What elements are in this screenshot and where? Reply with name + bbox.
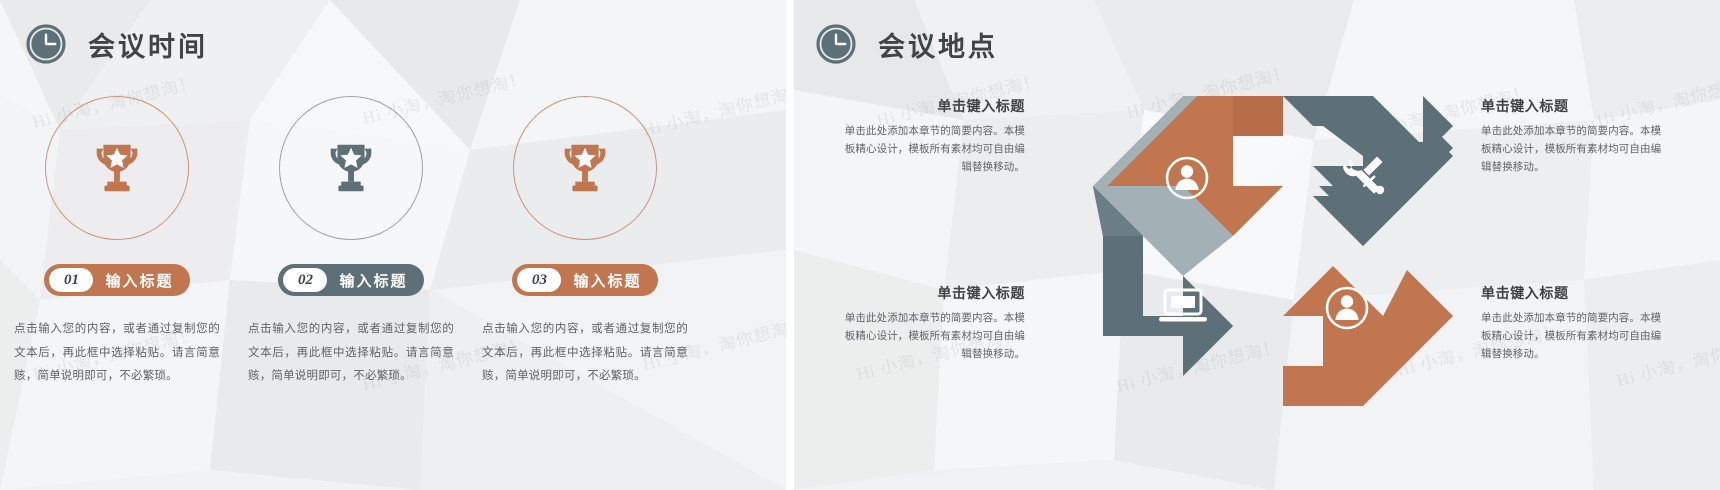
cycle-text-bottom-left[interactable]: 单击键入标题 单击此处添加本章节的简要内容。本模板精心设计，模板所有素材均可自由… — [839, 283, 1025, 363]
badge-03[interactable]: 03 输入标题 — [512, 264, 657, 296]
cycle-text-top-left[interactable]: 单击键入标题 单击此处添加本章节的简要内容。本模板精心设计，模板所有素材均可自由… — [839, 96, 1025, 176]
badge-02[interactable]: 02 输入标题 — [278, 264, 423, 296]
badge-number: 03 — [517, 268, 561, 292]
cycle-text-bottom-right[interactable]: 单击键入标题 单击此处添加本章节的简要内容。本模板精心设计，模板所有素材均可自由… — [1481, 283, 1667, 363]
page-title: 会议时间 — [88, 25, 208, 64]
block-body: 单击此处添加本章节的简要内容。本模板精心设计，模板所有素材均可自由编辑替换移动。 — [1481, 122, 1667, 176]
slide-meeting-time: Hi 小淘，淘你想淘！ Hi 小淘，淘你想淘！ Hi 小淘，淘你想淘！ Hi 小… — [0, 0, 786, 490]
cycle-text-top-right[interactable]: 单击键入标题 单击此处添加本章节的简要内容。本模板精心设计，模板所有素材均可自由… — [1481, 96, 1667, 176]
block-body: 单击此处添加本章节的简要内容。本模板精心设计，模板所有素材均可自由编辑替换移动。 — [839, 122, 1025, 176]
trophy-column-03[interactable]: 03 输入标题 点击输入您的内容，或者通过复制您的文本后，再此框中选择粘贴。请言… — [481, 96, 689, 389]
trophy-column-01[interactable]: 01 输入标题 点击输入您的内容，或者通过复制您的文本后，再此框中选择粘贴。请言… — [13, 96, 221, 389]
trophy-circle — [45, 96, 189, 240]
block-body: 单击此处添加本章节的简要内容。本模板精心设计，模板所有素材均可自由编辑替换移动。 — [1481, 309, 1667, 363]
trophy-icon — [320, 137, 382, 199]
block-title: 单击键入标题 — [839, 96, 1025, 116]
slide-header-left: 会议时间 — [26, 24, 208, 64]
page-title: 会议地点 — [878, 25, 998, 64]
badge-01[interactable]: 01 输入标题 — [44, 264, 189, 296]
badge-title: 输入标题 — [339, 270, 407, 291]
slide-header-right: 会议地点 — [816, 24, 998, 64]
item-body-text: 点击输入您的内容，或者通过复制您的文本后，再此框中选择粘贴。请言简意赅，简单说明… — [14, 318, 220, 389]
slide-divider — [786, 0, 794, 490]
badge-number: 01 — [49, 268, 93, 292]
trophy-circle — [513, 96, 657, 240]
badge-title: 输入标题 — [105, 270, 173, 291]
block-title: 单击键入标题 — [1481, 96, 1667, 116]
cycle-diagram — [1037, 78, 1477, 408]
block-title: 单击键入标题 — [839, 283, 1025, 303]
item-body-text: 点击输入您的内容，或者通过复制您的文本后，再此框中选择粘贴。请言简意赅，简单说明… — [482, 318, 688, 389]
trophy-icon — [86, 137, 148, 199]
trophy-icon — [554, 137, 616, 199]
badge-number: 02 — [283, 268, 327, 292]
clock-icon — [26, 24, 66, 64]
trophy-column-02[interactable]: 02 输入标题 点击输入您的内容，或者通过复制您的文本后，再此框中选择粘贴。请言… — [247, 96, 455, 389]
trophy-columns: 01 输入标题 点击输入您的内容，或者通过复制您的文本后，再此框中选择粘贴。请言… — [0, 96, 786, 389]
clock-icon — [816, 24, 856, 64]
block-body: 单击此处添加本章节的简要内容。本模板精心设计，模板所有素材均可自由编辑替换移动。 — [839, 309, 1025, 363]
slide-deck: Hi 小淘，淘你想淘！ Hi 小淘，淘你想淘！ Hi 小淘，淘你想淘！ Hi 小… — [0, 0, 1720, 490]
block-title: 单击键入标题 — [1481, 283, 1667, 303]
trophy-circle — [279, 96, 423, 240]
slide-meeting-place: Hi 小淘，淘你想淘！ Hi 小淘，淘你想淘！ Hi 小淘，淘你想淘！ Hi 小… — [794, 0, 1720, 490]
item-body-text: 点击输入您的内容，或者通过复制您的文本后，再此框中选择粘贴。请言简意赅，简单说明… — [248, 318, 454, 389]
badge-title: 输入标题 — [573, 270, 641, 291]
